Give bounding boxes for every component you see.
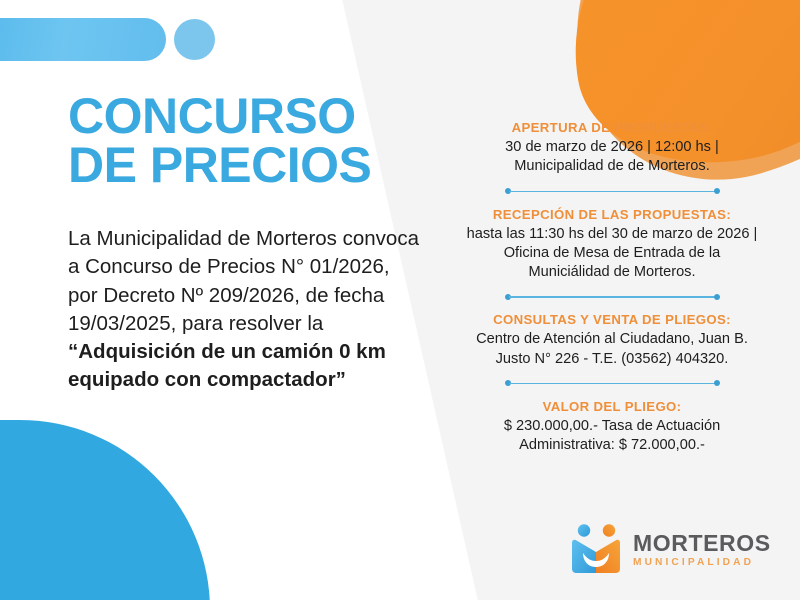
detail-heading: RECEPCIÓN DE LAS PROPUESTAS: [466, 207, 758, 222]
decorative-blue-dot [174, 19, 215, 60]
detail-text: hasta las 11:30 hs del 30 de marzo de 20… [466, 225, 758, 283]
detail-text: $ 230.000,00.- Tasa de Actuación Adminis… [466, 417, 758, 456]
divider-dot-right-icon [714, 188, 720, 194]
announcement-body-bold: “Adquisición de un camión 0 km equipado … [68, 340, 386, 391]
poster-canvas: CONCURSO DE PRECIOS La Municipalidad de … [0, 0, 800, 600]
announcement-body-plain: La Municipalidad de Morteros convoca a C… [68, 227, 419, 335]
divider-dot-right-icon [714, 294, 720, 300]
detail-heading: VALOR DEL PLIEGO: [466, 399, 758, 414]
detail-block-consultas: CONSULTAS Y VENTA DE PLIEGOS: Centro de … [466, 312, 758, 369]
left-content-column: CONCURSO DE PRECIOS La Municipalidad de … [68, 92, 423, 395]
detail-block-recepcion: RECEPCIÓN DE LAS PROPUESTAS: hasta las 1… [466, 207, 758, 283]
decorative-blue-bar [0, 18, 166, 61]
detail-text: 30 de marzo de 2026 | 12:00 hs | Municip… [466, 138, 758, 177]
morteros-logo: MORTEROS MUNICIPALIDAD [568, 523, 771, 575]
divider-dot-right-icon [714, 380, 720, 386]
detail-block-valor: VALOR DEL PLIEGO: $ 230.000,00.- Tasa de… [466, 399, 758, 456]
detail-block-apertura: APERTURA DE PROPUESTAS: 30 de marzo de 2… [466, 120, 758, 177]
morteros-logo-text: MORTEROS MUNICIPALIDAD [633, 530, 771, 568]
morteros-logo-mark-icon [568, 523, 624, 575]
title-line-1: CONCURSO [68, 88, 356, 144]
page-title: CONCURSO DE PRECIOS [68, 92, 423, 189]
section-divider [505, 293, 720, 301]
logo-subtitle: MUNICIPALIDAD [633, 558, 771, 568]
divider-rule [509, 191, 716, 193]
logo-name: MORTEROS [633, 532, 771, 555]
divider-rule [509, 383, 716, 385]
title-line-2: DE PRECIOS [68, 141, 423, 190]
detail-heading: CONSULTAS Y VENTA DE PLIEGOS: [466, 312, 758, 327]
detail-text: Centro de Atención al Ciudadano, Juan B.… [466, 330, 758, 369]
section-divider [505, 380, 720, 388]
section-divider [505, 188, 720, 196]
right-details-column: APERTURA DE PROPUESTAS: 30 de marzo de 2… [466, 120, 758, 457]
detail-heading: APERTURA DE PROPUESTAS: [466, 120, 758, 135]
divider-rule [509, 296, 716, 298]
announcement-body: La Municipalidad de Morteros convoca a C… [68, 225, 423, 395]
